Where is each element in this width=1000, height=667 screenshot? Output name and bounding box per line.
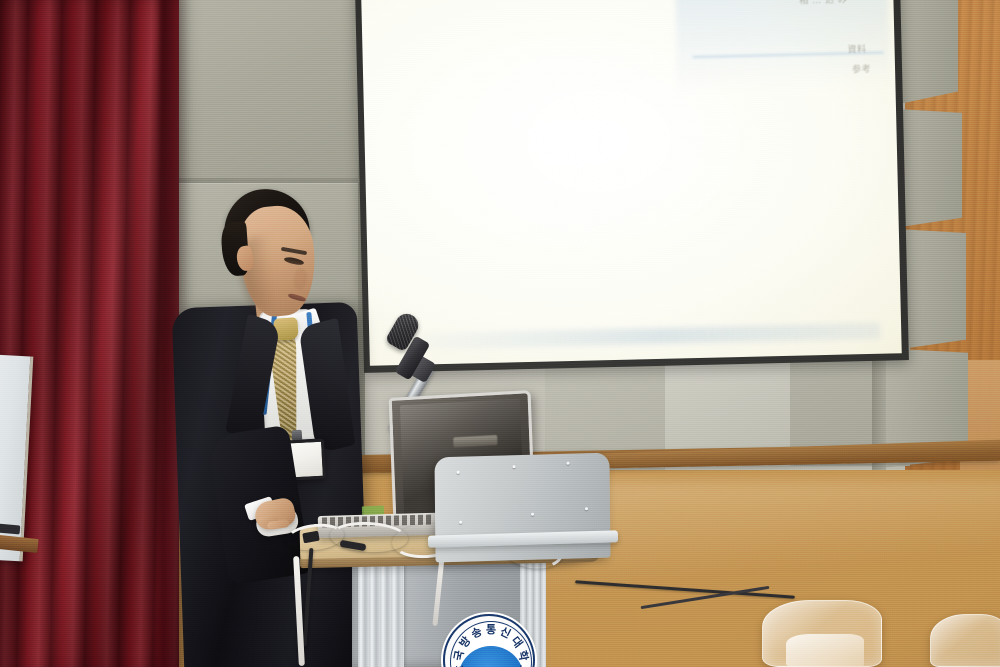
emblem-character: 통 (486, 621, 496, 637)
slide-line-2: 相 … 込 み (799, 0, 847, 7)
slide-line-3: 資料 (847, 42, 866, 55)
stage-curtain (0, 0, 179, 667)
photograph: 活用版 相 … 込 み 資料 参考 (0, 0, 1000, 667)
emblem-character: 대 (508, 633, 527, 651)
university-emblem: 한국방송통신대학교 (443, 614, 535, 667)
lectern-column-left (358, 556, 404, 667)
plastic-bag-contents (786, 634, 864, 667)
emblem-character: 국 (450, 649, 468, 662)
acoustic-panel (170, 0, 365, 178)
emblem-character: 교 (514, 664, 532, 667)
emblem-character: 학 (515, 649, 533, 662)
emblem-text: 한국방송통신대학교 (445, 616, 535, 667)
projection-screen: 活用版 相 … 込 み 資料 参考 (361, 0, 902, 366)
projection-screen-frame: 活用版 相 … 込 み 資料 参考 (355, 0, 909, 373)
whiteboard-marker (0, 523, 20, 535)
slide-footer-band (390, 323, 880, 351)
plastic-bag (930, 614, 1000, 667)
slide-line-4: 参考 (852, 62, 871, 75)
emblem-character: 한 (450, 664, 468, 667)
emblem-character: 송 (468, 623, 484, 642)
